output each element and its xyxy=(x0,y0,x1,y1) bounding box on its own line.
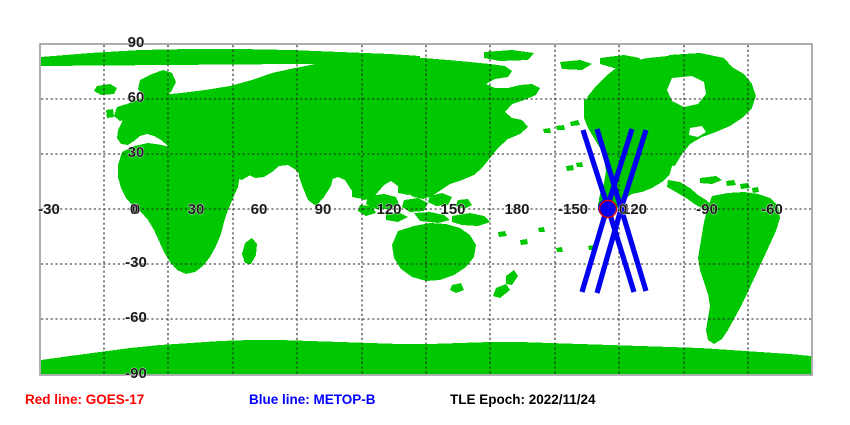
lat-tick-30: 30 xyxy=(128,144,145,161)
lon-tick-90: 90 xyxy=(315,201,332,218)
lat-tick-90: 90 xyxy=(128,34,145,51)
hawaii xyxy=(566,165,574,171)
lat-tick-60: 60 xyxy=(128,89,145,106)
lon-tick--60: -60 xyxy=(761,201,783,218)
lat-tick-0: 0 xyxy=(130,201,138,218)
legend-metopb: Blue line: METOP-B xyxy=(249,392,376,407)
legend: Red line: GOES-17 Blue line: METOP-B TLE… xyxy=(0,392,850,418)
lon-tick--150: -150 xyxy=(558,201,588,218)
lon-tick-120: 120 xyxy=(376,201,401,218)
lon-tick-30: 30 xyxy=(188,201,205,218)
lat-tick--30: -30 xyxy=(125,254,147,271)
lon-tick-60: 60 xyxy=(251,201,268,218)
lat-tick--60: -60 xyxy=(125,309,147,326)
lon-tick-150: 150 xyxy=(440,201,465,218)
legend-goes17: Red line: GOES-17 xyxy=(25,392,144,407)
world-map-figure: -30 0 30 60 90 120 150 180 -150 -120 -90… xyxy=(0,0,850,425)
lat-tick-0-overlap: 0 xyxy=(619,201,627,218)
lon-tick--30: -30 xyxy=(38,201,60,218)
lon-tick-180: 180 xyxy=(504,201,529,218)
lon-tick--90: -90 xyxy=(696,201,718,218)
legend-tle-epoch: TLE Epoch: 2022/11/24 xyxy=(450,392,596,407)
lat-tick--90: -90 xyxy=(125,365,147,382)
